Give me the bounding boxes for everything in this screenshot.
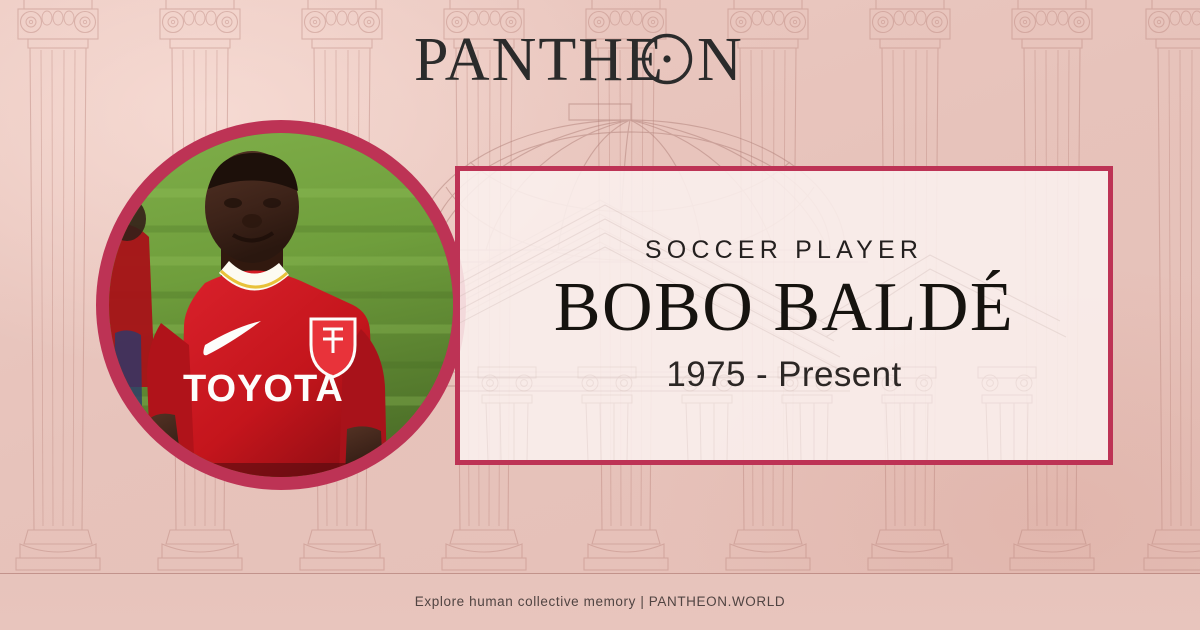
jersey-sponsor-text: TOYOTA xyxy=(183,368,344,410)
portrait-illustration: TOYOTA xyxy=(109,133,453,477)
horizontal-rule-icon xyxy=(0,573,1200,574)
dot-in-o-icon xyxy=(663,55,670,62)
wordmark-text-tail: N xyxy=(697,26,744,94)
avatar: TOYOTA xyxy=(109,133,453,477)
lifespan-label: 1975 - Present xyxy=(666,355,901,395)
pantheon-wordmark: PANTHE N xyxy=(0,24,1200,100)
occupation-label: SOCCER PLAYER xyxy=(645,236,923,265)
footer-tagline: Explore human collective memory | PANTHE… xyxy=(0,594,1200,609)
person-info-card: SOCCER PLAYER BOBO BALDÉ 1975 - Present xyxy=(455,166,1113,465)
wordmark-text: PANTHE xyxy=(414,26,665,94)
page-title: BOBO BALDÉ xyxy=(554,271,1014,345)
pantheon-wordmark-glyphs: PANTHE N xyxy=(414,24,786,96)
pantheon-profile-card: PANTHE N xyxy=(0,0,1200,630)
portrait-ring: TOYOTA xyxy=(96,120,466,490)
